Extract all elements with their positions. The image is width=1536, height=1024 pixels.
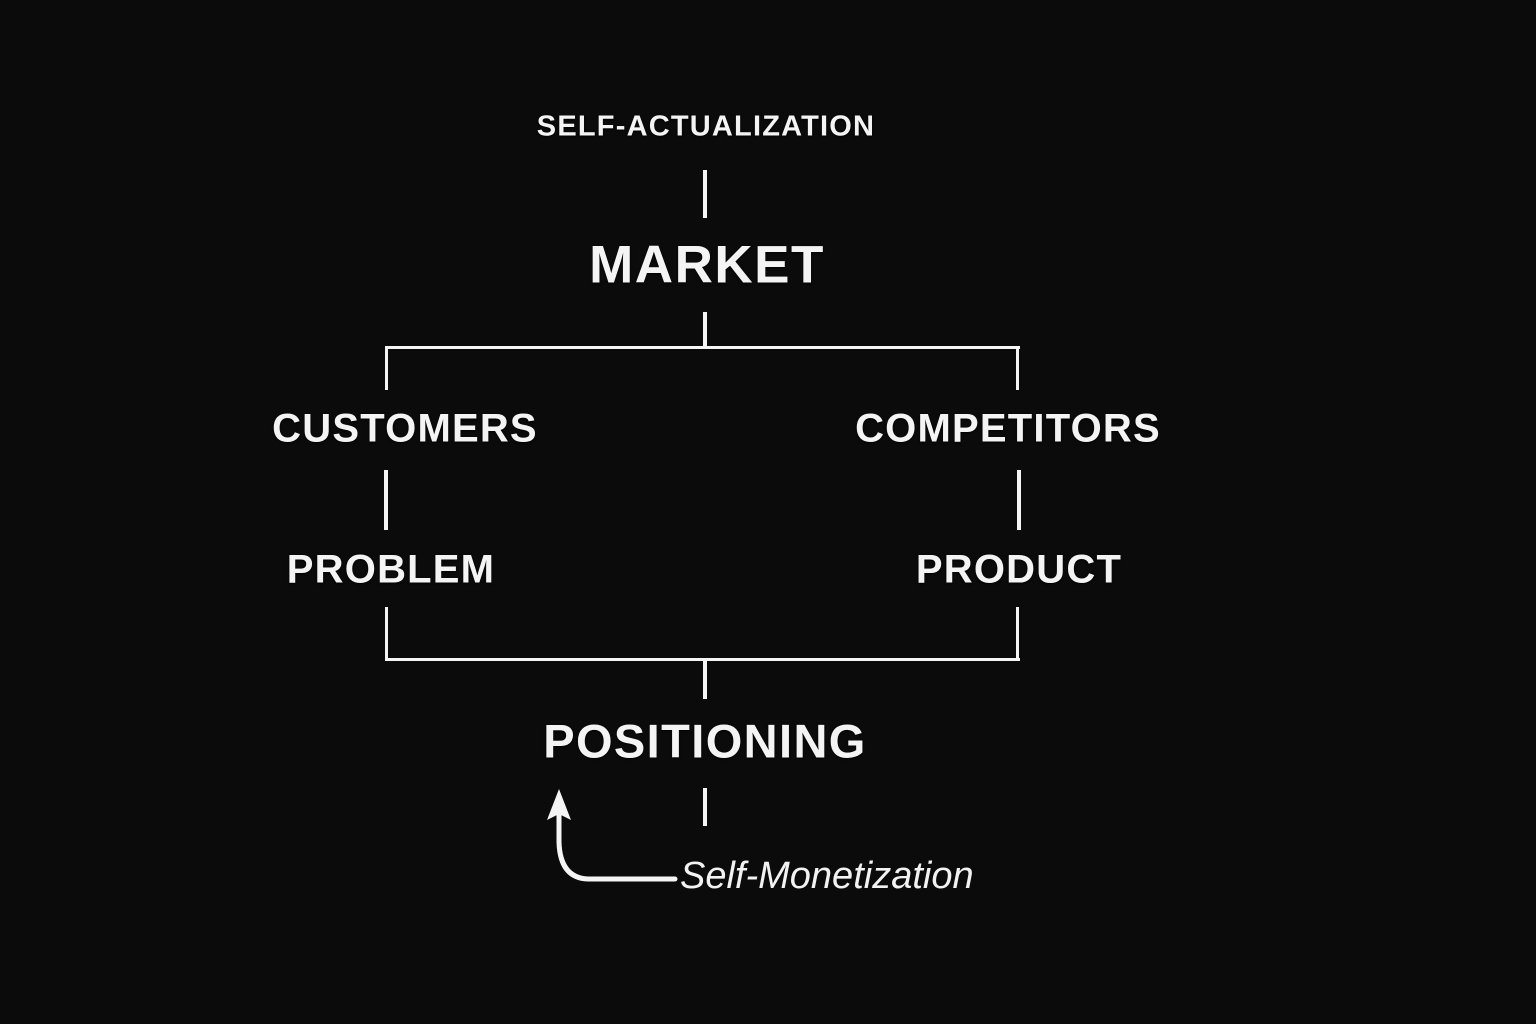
connector-customers-to-problem xyxy=(384,470,388,530)
node-market: MARKET xyxy=(589,235,825,296)
bracket-top-rail xyxy=(385,346,1020,349)
diagram-canvas: SELF-ACTUALIZATION MARKET CUSTOMERS COMP… xyxy=(0,0,1536,1024)
annotation-self-monetization: Self-Monetization xyxy=(680,855,974,898)
node-self-actualization: SELF-ACTUALIZATION xyxy=(537,111,875,144)
connector-bracket-to-positioning xyxy=(703,661,707,699)
node-customers: CUSTOMERS xyxy=(272,407,538,452)
bracket-bottom-left-rise xyxy=(385,607,388,661)
bracket-bottom-right-rise xyxy=(1016,607,1019,661)
node-competitors: COMPETITORS xyxy=(855,407,1161,452)
connector-self-actualization-to-market xyxy=(703,170,707,218)
node-product: PRODUCT xyxy=(916,548,1122,593)
bracket-top-left-drop xyxy=(385,346,388,390)
connector-competitors-to-product xyxy=(1017,470,1021,530)
connector-positioning-to-annotation xyxy=(703,788,707,826)
node-positioning: POSITIONING xyxy=(543,714,867,769)
bracket-top-right-drop xyxy=(1016,346,1019,390)
connector-market-to-bracket xyxy=(703,312,707,348)
node-problem: PROBLEM xyxy=(287,548,495,593)
